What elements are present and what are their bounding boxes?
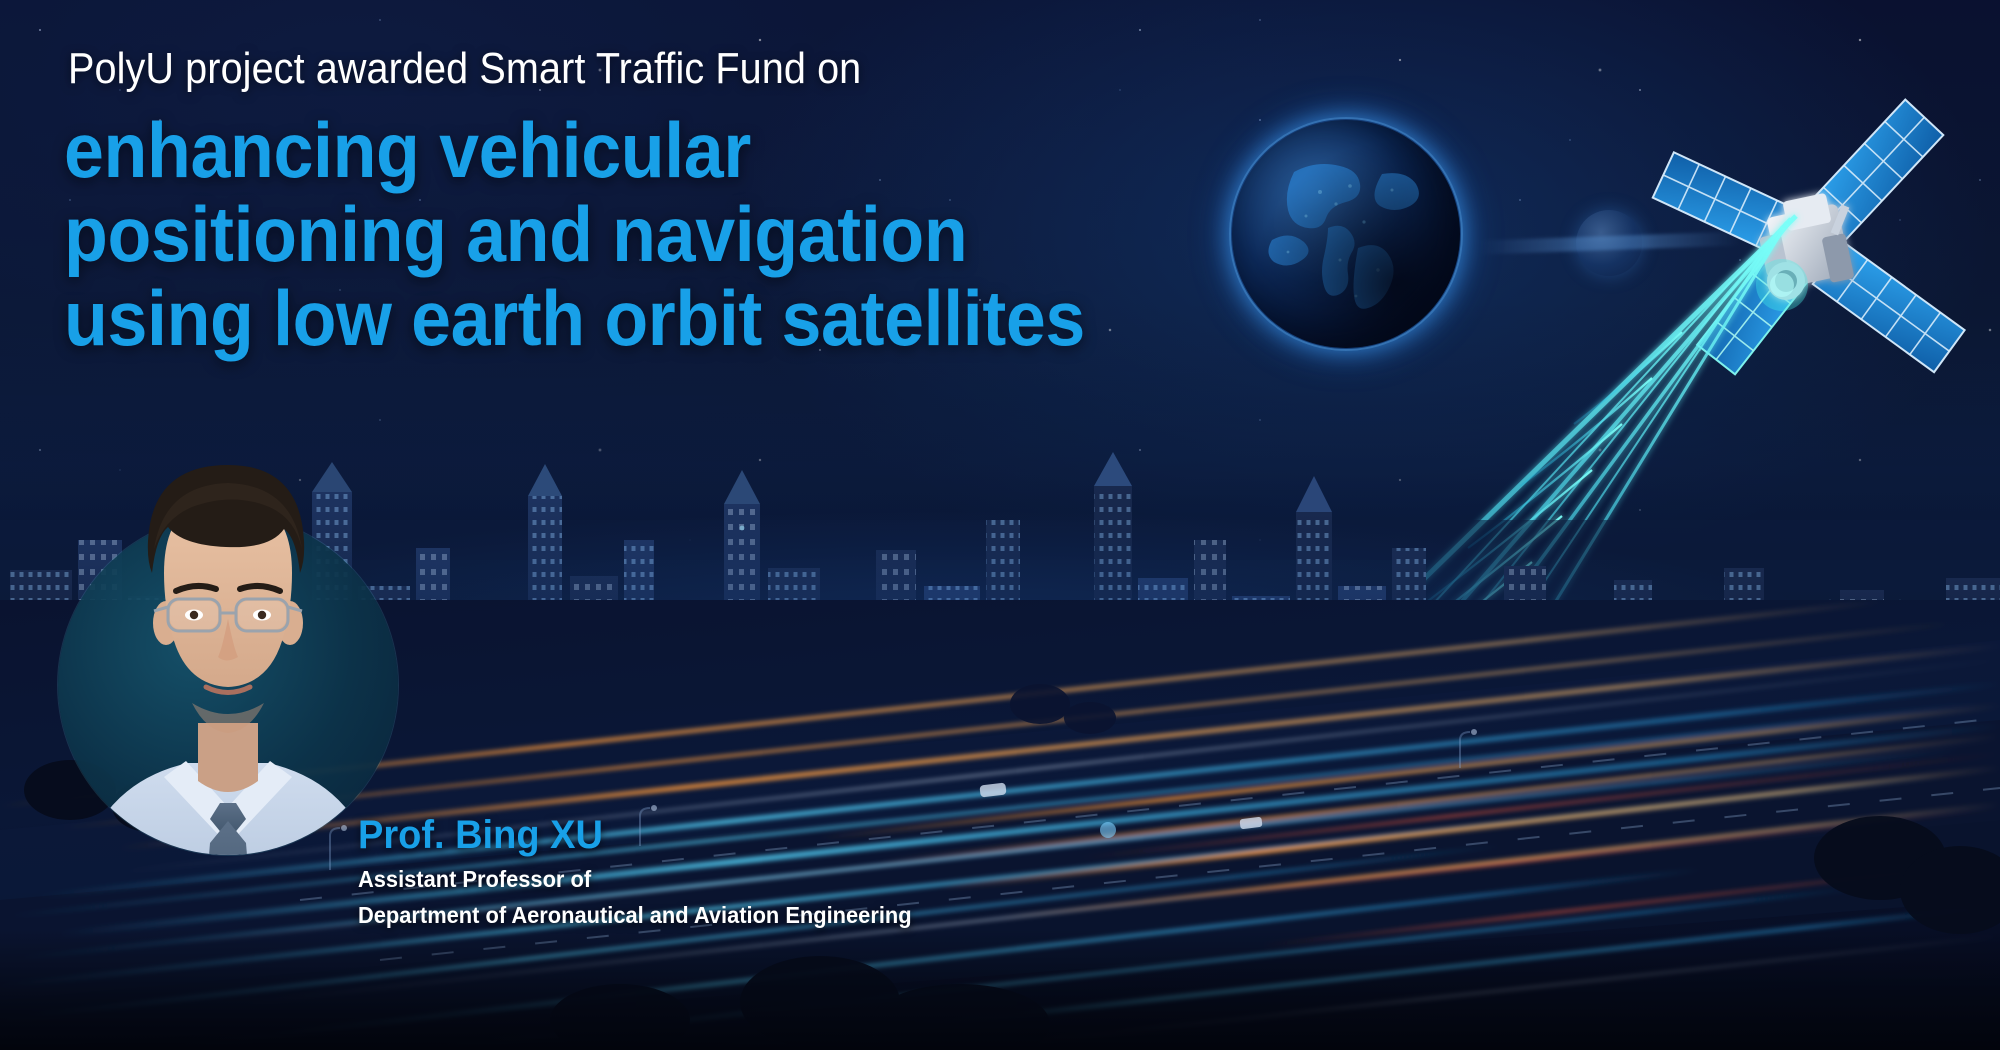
headline-line-2: positioning and navigation (64, 192, 1297, 276)
person-name: Prof. Bing XU (358, 812, 912, 858)
headline-line-3: using low earth orbit satellites (64, 276, 1297, 360)
headline-line-1: enhancing vehicular (64, 108, 1297, 192)
portrait-group (58, 405, 398, 967)
poster-banner: PolyU project awarded Smart Traffic Fund… (0, 0, 2000, 1050)
professor-portrait (58, 405, 398, 857)
credit-block: Prof. Bing XU Assistant Professor of Dep… (358, 812, 941, 930)
person-role-line-1: Assistant Professor of (358, 864, 912, 894)
person-role-line-2: Department of Aeronautical and Aviation … (358, 900, 912, 930)
satellite-icon (1630, 85, 2000, 385)
headline: enhancing vehicular positioning and navi… (64, 108, 1404, 360)
kicker-line: PolyU project awarded Smart Traffic Fund… (68, 44, 861, 94)
